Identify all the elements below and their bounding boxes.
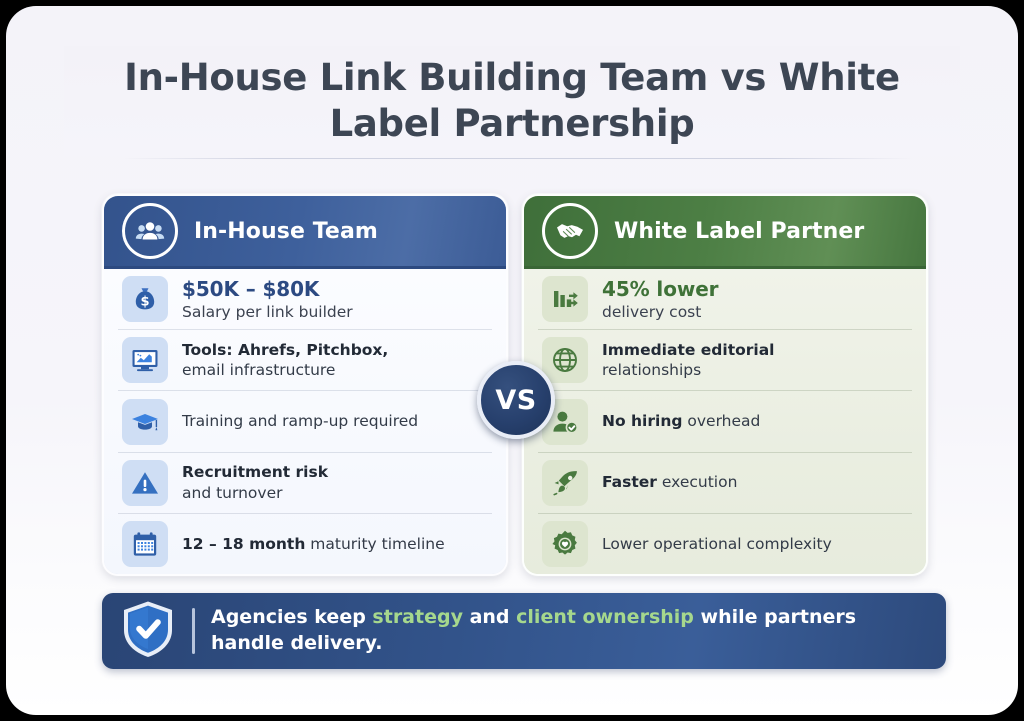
- list-item: 45% lower delivery cost: [538, 269, 912, 329]
- list-item-text: 12 – 18 month maturity timeline: [182, 534, 445, 554]
- list-item: Immediate editorial relationships: [538, 329, 912, 390]
- infographic-panel: In-House Link Building Team vs White Lab…: [6, 6, 1018, 715]
- in-house-team-card: In-House Team $ $50K – $80K: [102, 194, 508, 576]
- banner-text: Agencies keep strategy and client owners…: [211, 605, 946, 656]
- title-block: In-House Link Building Team vs White Lab…: [64, 46, 960, 156]
- list-item-bold: Faster: [602, 473, 657, 491]
- list-item-bold: Tools: Ahrefs, Pitchbox,: [182, 341, 388, 359]
- list-item: Tools: Ahrefs, Pitchbox, email infrastru…: [118, 329, 492, 390]
- white-label-card-title: White Label Partner: [614, 219, 864, 244]
- people-group-icon: [122, 203, 178, 259]
- list-item-text: Recruitment risk and turnover: [182, 462, 328, 503]
- list-item: Training and ramp-up required: [118, 390, 492, 451]
- list-item-text: $50K – $80K Salary per link builder: [182, 276, 353, 323]
- list-item-text: No hiring overhead: [602, 411, 760, 431]
- list-item: Recruitment risk and turnover: [118, 452, 492, 513]
- list-item-headline: 45% lower: [602, 276, 718, 302]
- list-item-regular: relationships: [602, 361, 701, 379]
- list-item-bold: 12 – 18 month: [182, 535, 305, 553]
- banner-highlight: strategy: [372, 606, 463, 628]
- list-item-text: Faster execution: [602, 472, 737, 492]
- money-bag-icon: $: [122, 276, 168, 322]
- in-house-card-title: In-House Team: [194, 219, 378, 244]
- white-label-card-header: White Label Partner: [524, 196, 926, 269]
- globe-icon: [542, 337, 588, 383]
- calendar-icon: [122, 521, 168, 567]
- white-label-partner-card: White Label Partner: [522, 194, 928, 576]
- list-item-text: Training and ramp-up required: [182, 411, 418, 431]
- list-item-text: 45% lower delivery cost: [602, 276, 718, 323]
- svg-text:$: $: [140, 295, 149, 310]
- list-item: No hiring overhead: [538, 390, 912, 451]
- page-title: In-House Link Building Team vs White Lab…: [64, 55, 960, 148]
- list-item: Lower operational complexity: [538, 513, 912, 574]
- list-item-regular: Lower operational complexity: [602, 535, 832, 553]
- shield-check-icon: [120, 599, 176, 663]
- list-item-text: Immediate editorial relationships: [602, 340, 774, 381]
- list-item: 12 – 18 month maturity timeline: [118, 513, 492, 574]
- list-item-bold: No hiring: [602, 412, 682, 430]
- rocket-icon: [542, 460, 588, 506]
- list-item-regular: and turnover: [182, 484, 282, 502]
- screenshot-frame: In-House Link Building Team vs White Lab…: [0, 0, 1024, 721]
- list-item-regular: overhead: [687, 412, 760, 430]
- in-house-card-body: $ $50K – $80K Salary per link builder: [104, 269, 506, 574]
- bar-chart-down-arrow-icon: [542, 276, 588, 322]
- banner-plain: Agencies keep: [211, 606, 372, 628]
- list-item-headline: $50K – $80K: [182, 276, 353, 302]
- list-item-bold: Immediate editorial: [602, 341, 774, 359]
- banner-highlight: client ownership: [516, 606, 694, 628]
- banner-divider: [192, 608, 195, 654]
- monitor-chart-icon: [122, 337, 168, 383]
- list-item-text: Lower operational complexity: [602, 534, 832, 554]
- list-item-regular: execution: [662, 473, 738, 491]
- list-item-sub: Salary per link builder: [182, 302, 353, 322]
- gear-heart-icon: [542, 521, 588, 567]
- warning-triangle-icon: [122, 460, 168, 506]
- white-label-card-body: 45% lower delivery cost: [524, 269, 926, 574]
- summary-banner: Agencies keep strategy and client owners…: [102, 593, 946, 669]
- title-divider: [124, 158, 912, 159]
- list-item: $ $50K – $80K Salary per link builder: [118, 269, 492, 329]
- handshake-icon: [542, 203, 598, 259]
- list-item-bold: Recruitment risk: [182, 463, 328, 481]
- graduation-cap-icon: [122, 399, 168, 445]
- list-item-sub: delivery cost: [602, 302, 718, 322]
- list-item-regular: email infrastructure: [182, 361, 335, 379]
- list-item-regular: Training and ramp-up required: [182, 412, 418, 430]
- list-item: Faster execution: [538, 452, 912, 513]
- list-item-text: Tools: Ahrefs, Pitchbox, email infrastru…: [182, 340, 388, 381]
- banner-plain: and: [463, 606, 516, 628]
- vs-badge-icon: VS: [477, 361, 555, 439]
- in-house-card-header: In-House Team: [104, 196, 506, 269]
- vs-badge-label: VS: [495, 385, 536, 416]
- list-item-regular: maturity timeline: [310, 535, 444, 553]
